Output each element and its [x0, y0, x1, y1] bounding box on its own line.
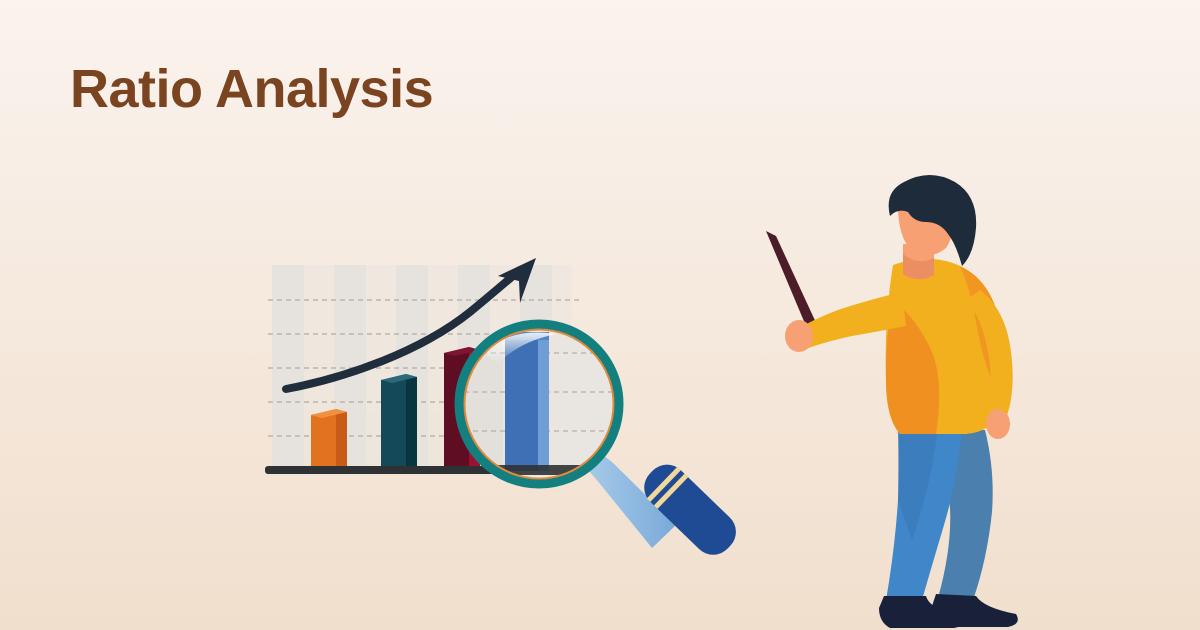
poster-canvas: Ratio Analysis: [0, 0, 1200, 630]
chart-bar-teal: [381, 374, 417, 468]
person-front-hand: [785, 320, 813, 352]
chart-bar-orange: [311, 409, 347, 468]
magnifying-glass-icon: [455, 320, 744, 563]
person-illustration: [766, 175, 1018, 628]
ratio-analysis-illustration: [0, 0, 1200, 630]
person-back-hand: [986, 409, 1010, 439]
